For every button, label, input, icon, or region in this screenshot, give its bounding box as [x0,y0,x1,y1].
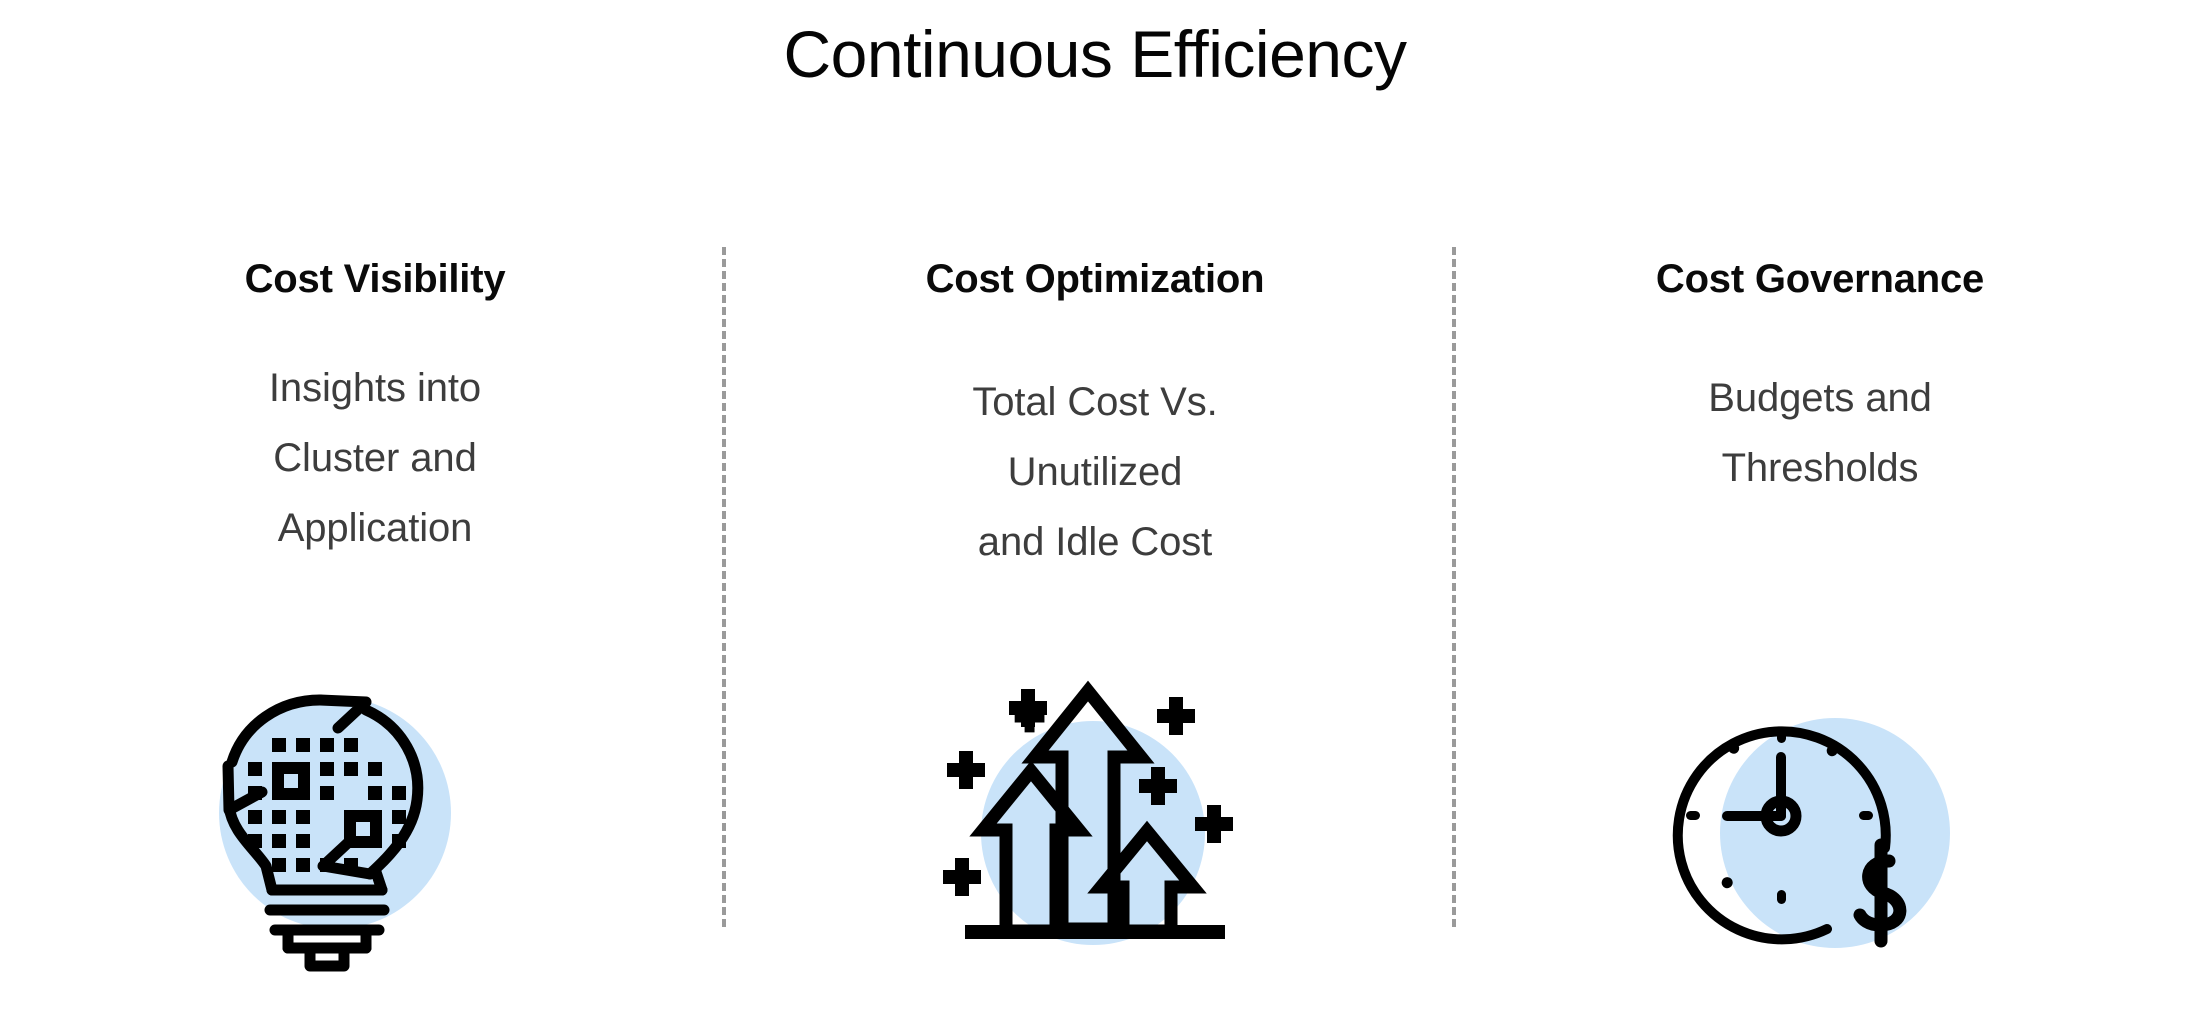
column-divider-1 [722,247,726,927]
column-cost-optimization: Cost Optimization Total Cost Vs. Unutili… [795,255,1395,577]
body-line: Unutilized [795,437,1395,507]
body-line: Insights into [75,353,675,423]
column-body-cost-governance: Budgets and Thresholds [1520,363,2120,503]
body-line: and Idle Cost [795,507,1395,577]
column-heading-cost-visibility: Cost Visibility [75,255,675,303]
column-divider-2 [1452,247,1456,927]
column-cost-governance: Cost Governance Budgets and Thresholds [1520,255,2120,503]
body-line: Thresholds [1520,433,2120,503]
slide-continuous-efficiency: Continuous Efficiency Cost Visibility In… [0,0,2190,1030]
growth-arrows-icon [925,675,1265,975]
column-body-cost-visibility: Insights into Cluster and Application [75,353,675,563]
lightbulb-chip-refresh-icon [170,680,510,980]
body-line: Cluster and [75,423,675,493]
column-heading-cost-optimization: Cost Optimization [795,255,1395,303]
column-body-cost-optimization: Total Cost Vs. Unutilized and Idle Cost [795,367,1395,577]
clock-dollar-icon [1650,685,1990,985]
column-heading-cost-governance: Cost Governance [1520,255,2120,303]
column-cost-visibility: Cost Visibility Insights into Cluster an… [75,255,675,563]
arrows-baseline [965,925,1225,939]
body-line: Budgets and [1520,363,2120,433]
body-line: Total Cost Vs. [795,367,1395,437]
body-line: Application [75,493,675,563]
